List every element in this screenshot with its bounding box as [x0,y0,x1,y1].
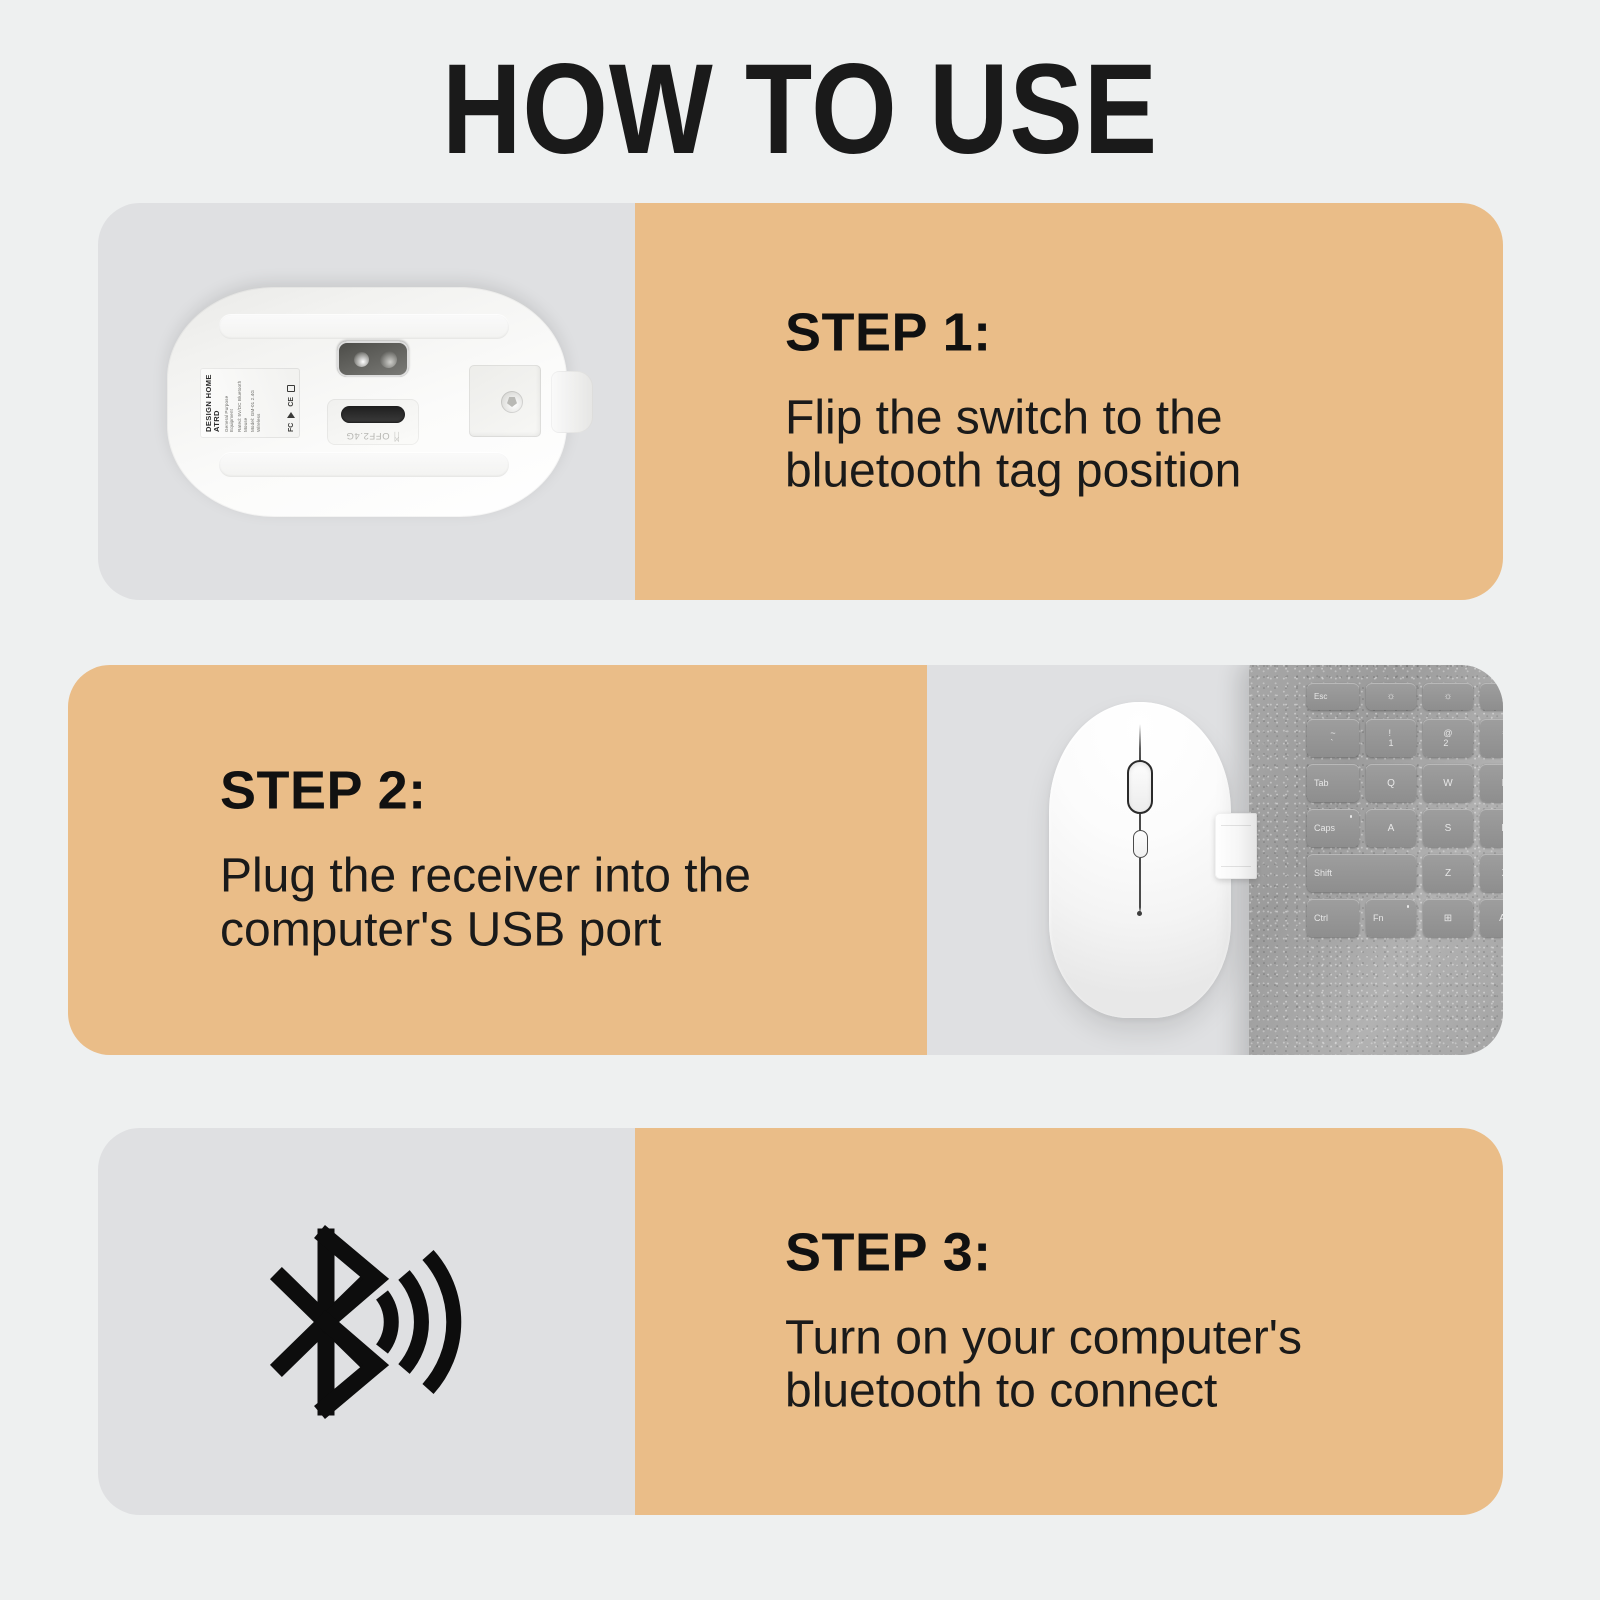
step-1-heading: STEP 1: [785,305,1445,359]
label-compliance-marks: FC CE [287,374,295,432]
keyboard-function-row: Esc ☼ ☼ ☼ ☼ ☼ [1307,683,1503,710]
key-shift[interactable]: Shift [1307,854,1416,892]
mouse-dpi-button[interactable] [1133,830,1148,858]
laptop-keyboard-photo: Esc ☼ ☼ ☼ ☼ ☼ ~` !1 @2 #3 $4 %5 Tab Q W … [1249,665,1503,1055]
step-1-body-line-2: bluetooth tag position [785,445,1445,499]
mode-switch-label: ᛗ OFF2.4G [327,430,419,442]
step-3-text-pane: STEP 3: Turn on your computer's bluetoot… [635,1128,1503,1515]
switch-off-label: OFF [368,430,389,441]
key-3[interactable]: #3 [1480,719,1503,757]
key-f3[interactable]: ☼ [1480,683,1503,710]
key-x[interactable]: X [1480,854,1503,892]
optical-sensor [337,341,409,377]
usb-receiver-dongle [1215,813,1257,879]
key-e[interactable]: E [1480,764,1503,802]
step-3-body-line-1: Turn on your computer's [785,1311,1445,1365]
key-q[interactable]: Q [1366,764,1416,802]
step-card-1: ᛗ OFF2.4G DESIGN HOME ATRD General Purpo… [98,203,1503,600]
step-3-body: Turn on your computer's bluetooth to con… [785,1311,1445,1419]
play-triangle-icon [287,411,295,417]
step-3-body-line-2: bluetooth to connect [785,1365,1445,1419]
keyboard-shift-row: Shift Z X C V [1307,854,1503,892]
key-s[interactable]: S [1423,809,1473,847]
keyboard-qwerty-row: Tab Q W E R T [1307,764,1503,802]
key-w[interactable]: W [1423,764,1473,802]
step-1-text-pane: STEP 1: Flip the switch to the bluetooth… [635,203,1503,600]
step-card-2: STEP 2: Plug the receiver into the compu… [68,665,1503,1055]
step-card-3: STEP 3: Turn on your computer's bluetoot… [98,1128,1503,1515]
step-2-body-line-2: computer's USB port [220,903,880,957]
step-1-text-block: STEP 1: Flip the switch to the bluetooth… [785,305,1445,499]
page-title: HOW TO USE [112,46,1488,174]
bluetooth-glyph-small: ᛗ [392,430,399,442]
ce-mark-icon: CE [287,396,294,406]
step-3-heading: STEP 3: [785,1225,1445,1279]
fcc-mark-icon: FC [287,422,294,431]
step-2-body: Plug the receiver into the computer's US… [220,849,880,957]
step-1-body-line-1: Flip the switch to the [785,391,1445,445]
key-esc[interactable]: Esc [1307,683,1359,710]
step-2-text-pane: STEP 2: Plug the receiver into the compu… [68,665,927,1055]
mouse-glide-pad-bottom [219,315,509,339]
step-3-image-pane [98,1128,635,1515]
mode-switch-slider[interactable] [341,406,405,423]
key-ctrl[interactable]: Ctrl [1307,899,1359,937]
step-2-heading: STEP 2: [220,763,880,817]
key-tilde[interactable]: ~` [1307,719,1359,757]
key-alt[interactable]: Alt [1480,899,1503,937]
key-f1[interactable]: ☼ [1366,683,1416,710]
key-a[interactable]: A [1366,809,1416,847]
key-windows[interactable]: ⊞ [1423,899,1473,937]
keyboard-number-row: ~` !1 @2 #3 $4 %5 [1307,719,1503,757]
step-3-text-block: STEP 3: Turn on your computer's bluetoot… [785,1225,1445,1419]
label-line-2: Rated: 5V/DC Bluetooth Mouse [236,374,247,432]
label-line-3: Model: GM-01 2.4G Wireless [250,374,261,432]
key-caps-lock[interactable]: Caps [1307,809,1359,847]
label-line-1: General Purpose Equipment [223,374,234,432]
keyboard-home-row: Caps A S D F G [1307,809,1503,847]
mouse-glide-pad-top [219,453,509,477]
wireless-mouse-photo [1049,702,1231,1018]
key-fn[interactable]: Fn [1366,899,1416,937]
mouse-scroll-wheel[interactable] [1127,760,1153,814]
key-2[interactable]: @2 [1423,719,1473,757]
step-2-text-block: STEP 2: Plug the receiver into the compu… [220,763,880,957]
key-d[interactable]: D [1480,809,1503,847]
step-2-image-pane: Esc ☼ ☼ ☼ ☼ ☼ ~` !1 @2 #3 $4 %5 Tab Q W … [927,665,1503,1055]
mouse-underside-photo: ᛗ OFF2.4G DESIGN HOME ATRD General Purpo… [167,287,567,517]
label-brand-text: DESIGN HOME ATRD [205,374,222,432]
step-1-body: Flip the switch to the bluetooth tag pos… [785,391,1445,499]
battery-latch-icon [501,391,523,413]
weee-bin-icon [287,384,295,391]
key-1[interactable]: !1 [1366,719,1416,757]
switch-24g-label: 2.4G [345,430,368,441]
key-tab[interactable]: Tab [1307,764,1359,802]
regulatory-label-sticker: DESIGN HOME ATRD General Purpose Equipme… [200,368,300,438]
key-z[interactable]: Z [1423,854,1473,892]
step-1-image-pane: ᛗ OFF2.4G DESIGN HOME ATRD General Purpo… [98,203,635,600]
step-2-body-line-1: Plug the receiver into the [220,849,880,903]
key-f2[interactable]: ☼ [1423,683,1473,710]
mouse-side-nub [551,371,593,433]
mouse-bottom-seam [1139,858,1141,914]
bluetooth-signal-icon [252,1217,482,1427]
keyboard-modifier-row: Ctrl Fn ⊞ Alt [1307,899,1503,937]
